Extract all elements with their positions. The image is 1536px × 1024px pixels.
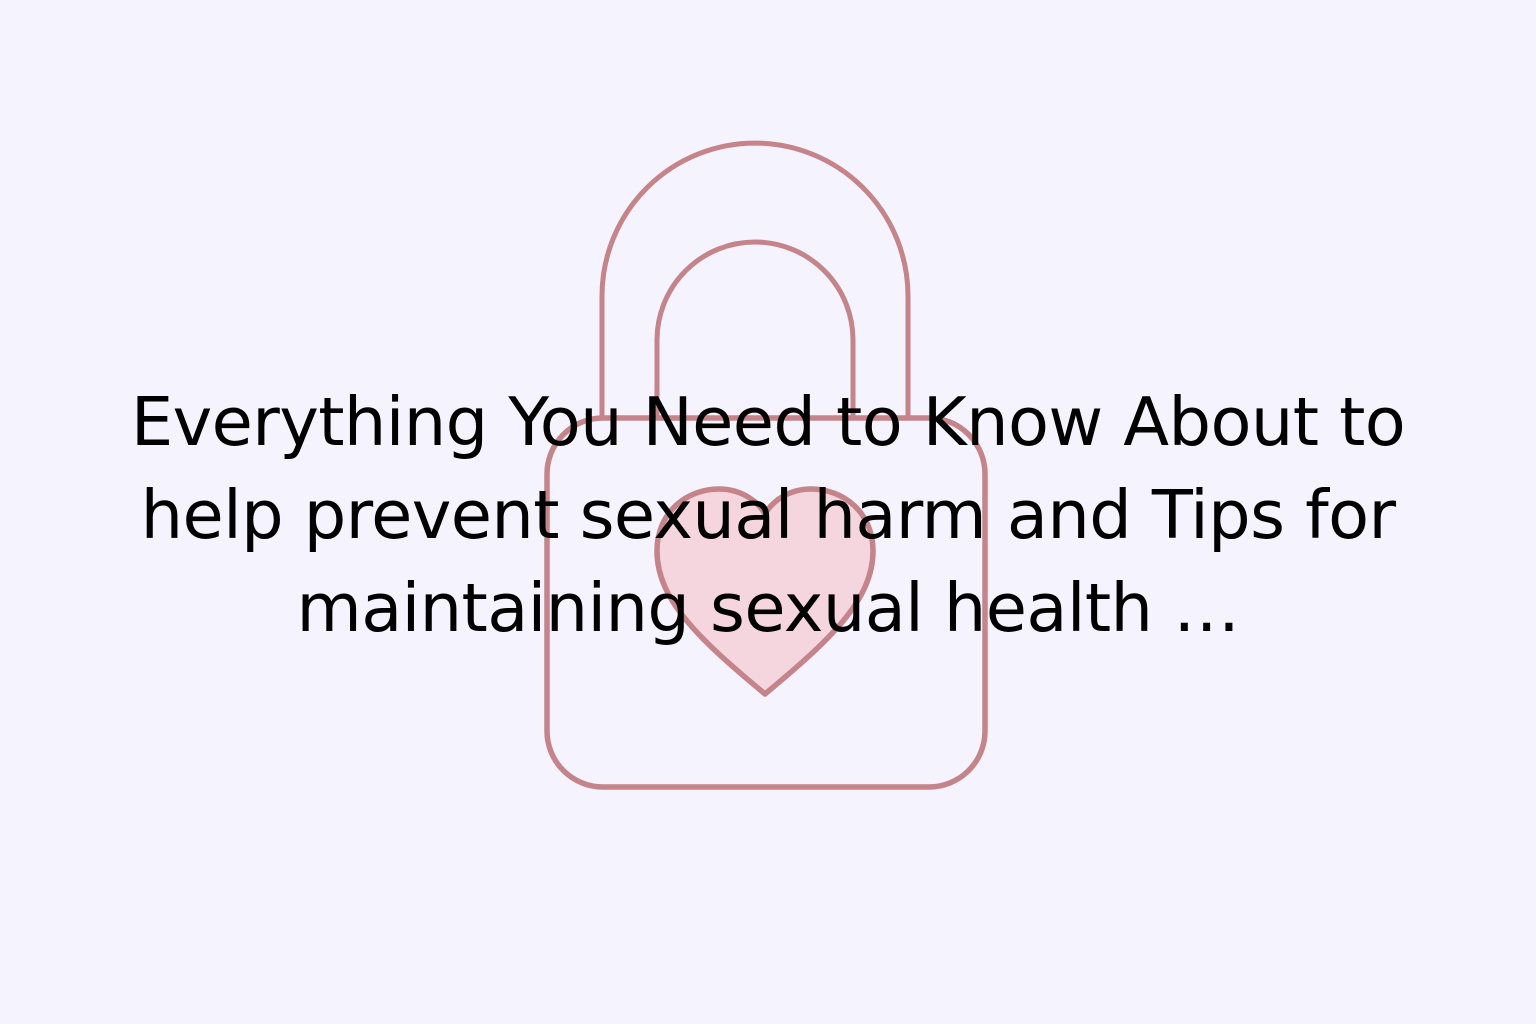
headline-line-3: maintaining sexual health … <box>108 562 1428 655</box>
headline-text-block: Everything You Need to Know About to hel… <box>108 376 1428 655</box>
headline-line-2: help prevent sexual harm and Tips for <box>108 469 1428 562</box>
headline-overlay: Everything You Need to Know About to hel… <box>0 0 1536 1024</box>
headline-line-1: Everything You Need to Know About to <box>108 376 1428 469</box>
article-thumbnail-card: Everything You Need to Know About to hel… <box>0 0 1536 1024</box>
